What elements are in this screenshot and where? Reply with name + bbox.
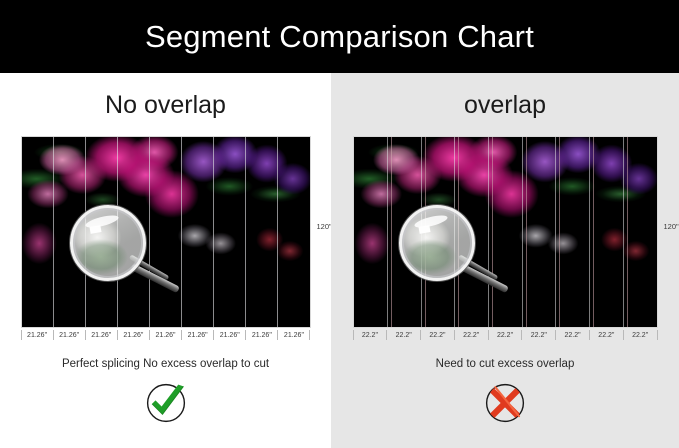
panel-heading-overlap: overlap (464, 93, 546, 118)
seam-line-pair (589, 137, 590, 327)
panel-overlap: overlap (331, 73, 679, 448)
segment-width: 22.2" (353, 330, 387, 340)
caption-overlap: Need to cut excess overlap (436, 358, 575, 370)
seam-line (245, 137, 246, 327)
panel-no-overlap: No overlap (0, 73, 331, 448)
panels-container: No overlap (0, 73, 679, 448)
header-bar: Segment Comparison Chart (0, 0, 679, 73)
figure-no-overlap: 120" 21.26" 21.26" 21.26" 21.26" 21.26" … (21, 136, 311, 340)
seam-line-pair (522, 137, 523, 327)
seam-line (53, 137, 54, 327)
segment-width: 22.2" (488, 330, 522, 340)
magnifier-lens (399, 205, 475, 281)
cross-icon (484, 382, 526, 424)
segment-width-labels-right: 22.2" 22.2" 22.2" 22.2" 22.2" 22.2" 22.2… (353, 330, 658, 340)
check-icon (145, 382, 187, 424)
segment-width: 22.2" (386, 330, 420, 340)
seam-line-pair (387, 137, 388, 327)
seam-line-pair (555, 137, 556, 327)
seam-line (277, 137, 278, 327)
seam-line (181, 137, 182, 327)
height-label-right: 120" (664, 222, 679, 231)
segment-width: 21.26" (117, 330, 149, 340)
segment-width-labels-left: 21.26" 21.26" 21.26" 21.26" 21.26" 21.26… (21, 330, 311, 340)
magnifier-icon (399, 205, 475, 281)
page-title: Segment Comparison Chart (145, 19, 534, 55)
seam-line-pair (623, 137, 624, 327)
segment-width: 22.2" (521, 330, 555, 340)
lens-glint-small (418, 225, 430, 234)
lens-glint-small (90, 225, 102, 234)
segment-width: 21.26" (21, 330, 53, 340)
seam-line (149, 137, 150, 327)
segment-width: 21.26" (85, 330, 117, 340)
segment-width: 21.26" (245, 330, 277, 340)
segment-width: 21.26" (181, 330, 213, 340)
caption-no-overlap: Perfect splicing No excess overlap to cu… (62, 358, 269, 370)
comparison-chart-page: Segment Comparison Chart No overlap (0, 0, 679, 448)
photo-no-overlap (21, 136, 311, 328)
photo-overlap (353, 136, 658, 328)
segment-width: 21.26" (277, 330, 310, 340)
segment-width: 21.26" (149, 330, 181, 340)
segment-width: 21.26" (53, 330, 85, 340)
segment-width: 22.2" (589, 330, 623, 340)
segment-width: 22.2" (555, 330, 589, 340)
seam-lines-single (22, 137, 310, 327)
seam-line-pair (488, 137, 489, 327)
segment-width: 22.2" (623, 330, 658, 340)
segment-width: 22.2" (454, 330, 488, 340)
segment-width: 22.2" (420, 330, 454, 340)
panel-heading-no-overlap: No overlap (105, 93, 226, 118)
segment-width: 21.26" (213, 330, 245, 340)
magnifier-icon (70, 205, 146, 281)
height-label-left: 120" (317, 222, 332, 231)
seam-line (213, 137, 214, 327)
figure-overlap: 120" 22.2" 22.2" 22.2" 22.2" 22.2" 22.2"… (353, 136, 658, 340)
